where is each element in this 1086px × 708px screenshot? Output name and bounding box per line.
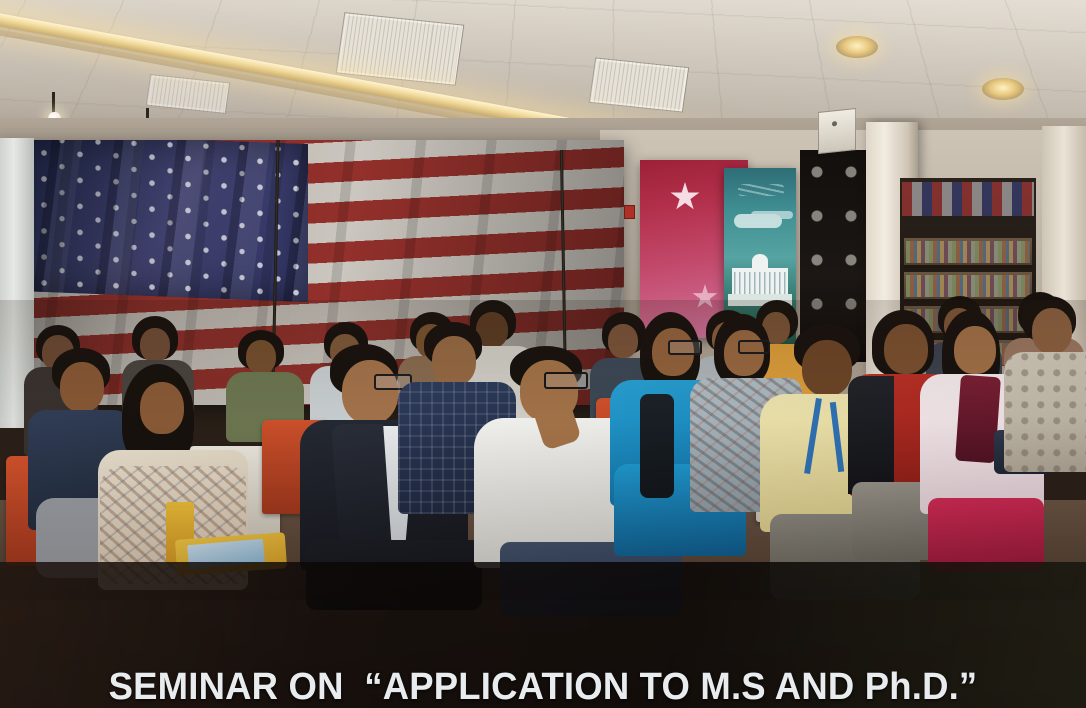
seminar-photograph: SEMINAR ON “APPLICATION TO M.S AND Ph.D.… — [0, 0, 1086, 708]
recessed-downlight-icon — [836, 36, 878, 58]
fire-alarm-icon — [624, 205, 635, 219]
star-icon — [692, 284, 718, 310]
recessed-downlight-icon — [982, 78, 1024, 100]
eyeglasses-icon — [738, 340, 770, 354]
banner-script-text — [738, 184, 784, 196]
ceiling-vent — [589, 57, 689, 112]
wall-speaker — [818, 108, 856, 154]
vest — [848, 376, 894, 494]
caption-line-1: SEMINAR ON “APPLICATION TO M.S AND Ph.D.… — [22, 664, 1065, 708]
caption-text: SEMINAR ON “APPLICATION TO M.S AND Ph.D.… — [22, 572, 1065, 708]
pendant-cord — [52, 92, 55, 114]
ceiling-vent — [336, 12, 465, 86]
decorative-bunting — [902, 182, 1034, 216]
saree-blouse — [640, 394, 674, 498]
star-icon — [670, 182, 700, 212]
floral-print — [1004, 352, 1086, 472]
churidar — [928, 498, 1044, 572]
eyeglasses-icon — [544, 372, 588, 389]
eyeglasses-icon — [668, 340, 702, 355]
cloud-icon — [734, 214, 782, 228]
